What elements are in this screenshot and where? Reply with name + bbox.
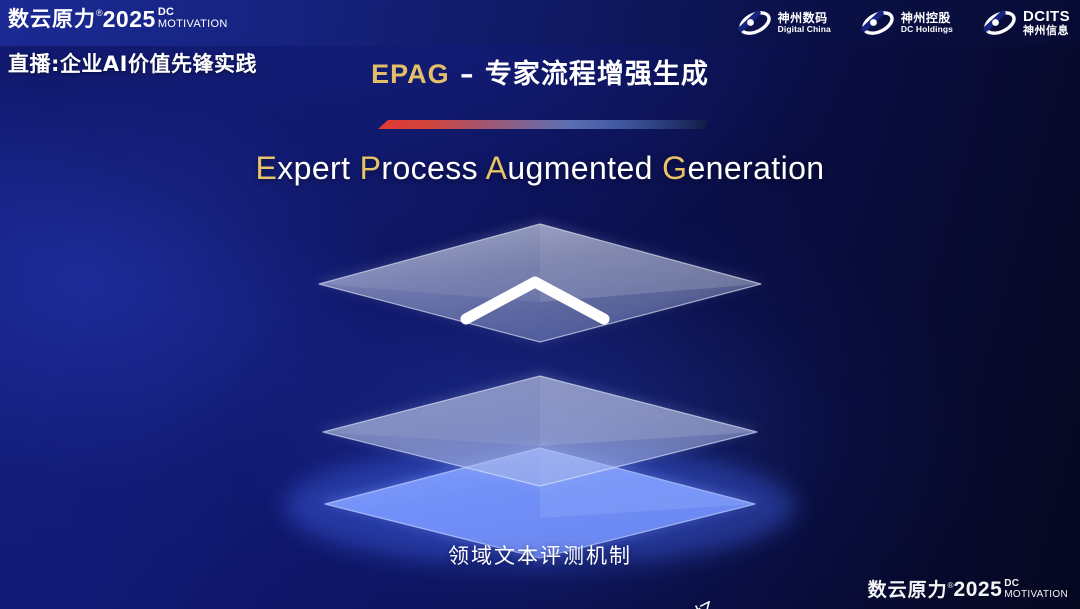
brand-name-cn: 数云原力: [8, 7, 96, 31]
title-acronym: EPAG: [371, 59, 450, 89]
subtitle-word-process: Process: [360, 150, 478, 186]
partner-name-en: DCITS: [1023, 9, 1070, 26]
brand-registered-mark: ®: [96, 8, 103, 19]
swoosh-icon: [983, 9, 1017, 37]
brand-year: 2025: [103, 7, 156, 31]
brand-dc-text: DC: [158, 7, 228, 18]
subtitle-word-generation: Generation: [662, 150, 824, 186]
swoosh-icon: [738, 9, 772, 37]
subtitle-initial: P: [360, 150, 382, 186]
subtitle-word-augmented: Augmented: [486, 150, 653, 186]
partner-name-cn: 神州数码: [778, 12, 831, 25]
partner-logo-group: 神州数码 Digital China 神州控股 DC Holdings: [738, 4, 1070, 42]
partner-name-en: DC Holdings: [901, 25, 953, 34]
partner-name-cn: 神州信息: [1023, 25, 1070, 37]
partner-logo-digital-china: 神州数码 Digital China: [738, 9, 831, 37]
subtitle-expansion: Expert Process Augmented Generation: [0, 150, 1080, 187]
title-chinese: 专家流程增强生成: [485, 59, 709, 90]
layered-stack-diagram: 领域文本评测机制 Dynamic MOE 长文本记忆 三类语义建模模块: [0, 206, 1080, 586]
brand-logo-top: 数云原力 ® 2025 DC MOTIVATION: [8, 7, 228, 31]
title-separator: –: [450, 59, 485, 90]
subtitle-word-expert: Expert: [255, 150, 350, 186]
brand-dc-text: DC: [1004, 579, 1068, 589]
partner-name-en: Digital China: [778, 25, 831, 34]
subtitle-initial: G: [662, 150, 687, 186]
partner-text-dc-holdings: 神州控股 DC Holdings: [901, 12, 953, 35]
brand-year: 2025: [954, 579, 1003, 601]
subtitle-remainder: rocess: [381, 150, 478, 186]
stack-label-long-text-memory: 长文本记忆: [607, 592, 723, 609]
brand-name-cn: 数云原力: [868, 579, 948, 601]
brand-dc-motivation: DC MOTIVATION: [158, 7, 228, 30]
brand-motivation-text: MOTIVATION: [158, 19, 228, 30]
partner-name-cn: 神州控股: [901, 12, 953, 25]
subtitle-remainder: ugmented: [507, 150, 653, 186]
live-stream-title: 直播:企业AI价值先锋实践: [8, 48, 257, 78]
subtitle-initial: E: [255, 150, 277, 186]
subtitle-initial: A: [486, 150, 508, 186]
brand-logo-watermark: 数云原力 ® 2025 DC MOTIVATION: [868, 579, 1068, 601]
partner-text-digital-china: 神州数码 Digital China: [778, 12, 831, 35]
stack-layer-top: [314, 220, 766, 346]
brand-motivation-text: MOTIVATION: [1004, 590, 1068, 600]
brand-dc-motivation: DC MOTIVATION: [1004, 579, 1068, 600]
subtitle-remainder: eneration: [687, 150, 824, 186]
gradient-divider-rule: [378, 120, 708, 129]
partner-logo-dc-holdings: 神州控股 DC Holdings: [861, 9, 953, 37]
swoosh-icon: [861, 9, 895, 37]
partner-text-dcits: DCITS 神州信息: [1023, 9, 1070, 38]
partner-logo-dcits: DCITS 神州信息: [983, 9, 1070, 38]
stack-svg: [0, 206, 1080, 586]
slide-canvas: 数云原力 ® 2025 DC MOTIVATION 直播:企业AI价值先锋实践 …: [0, 0, 1080, 609]
subtitle-remainder: xpert: [277, 150, 350, 186]
